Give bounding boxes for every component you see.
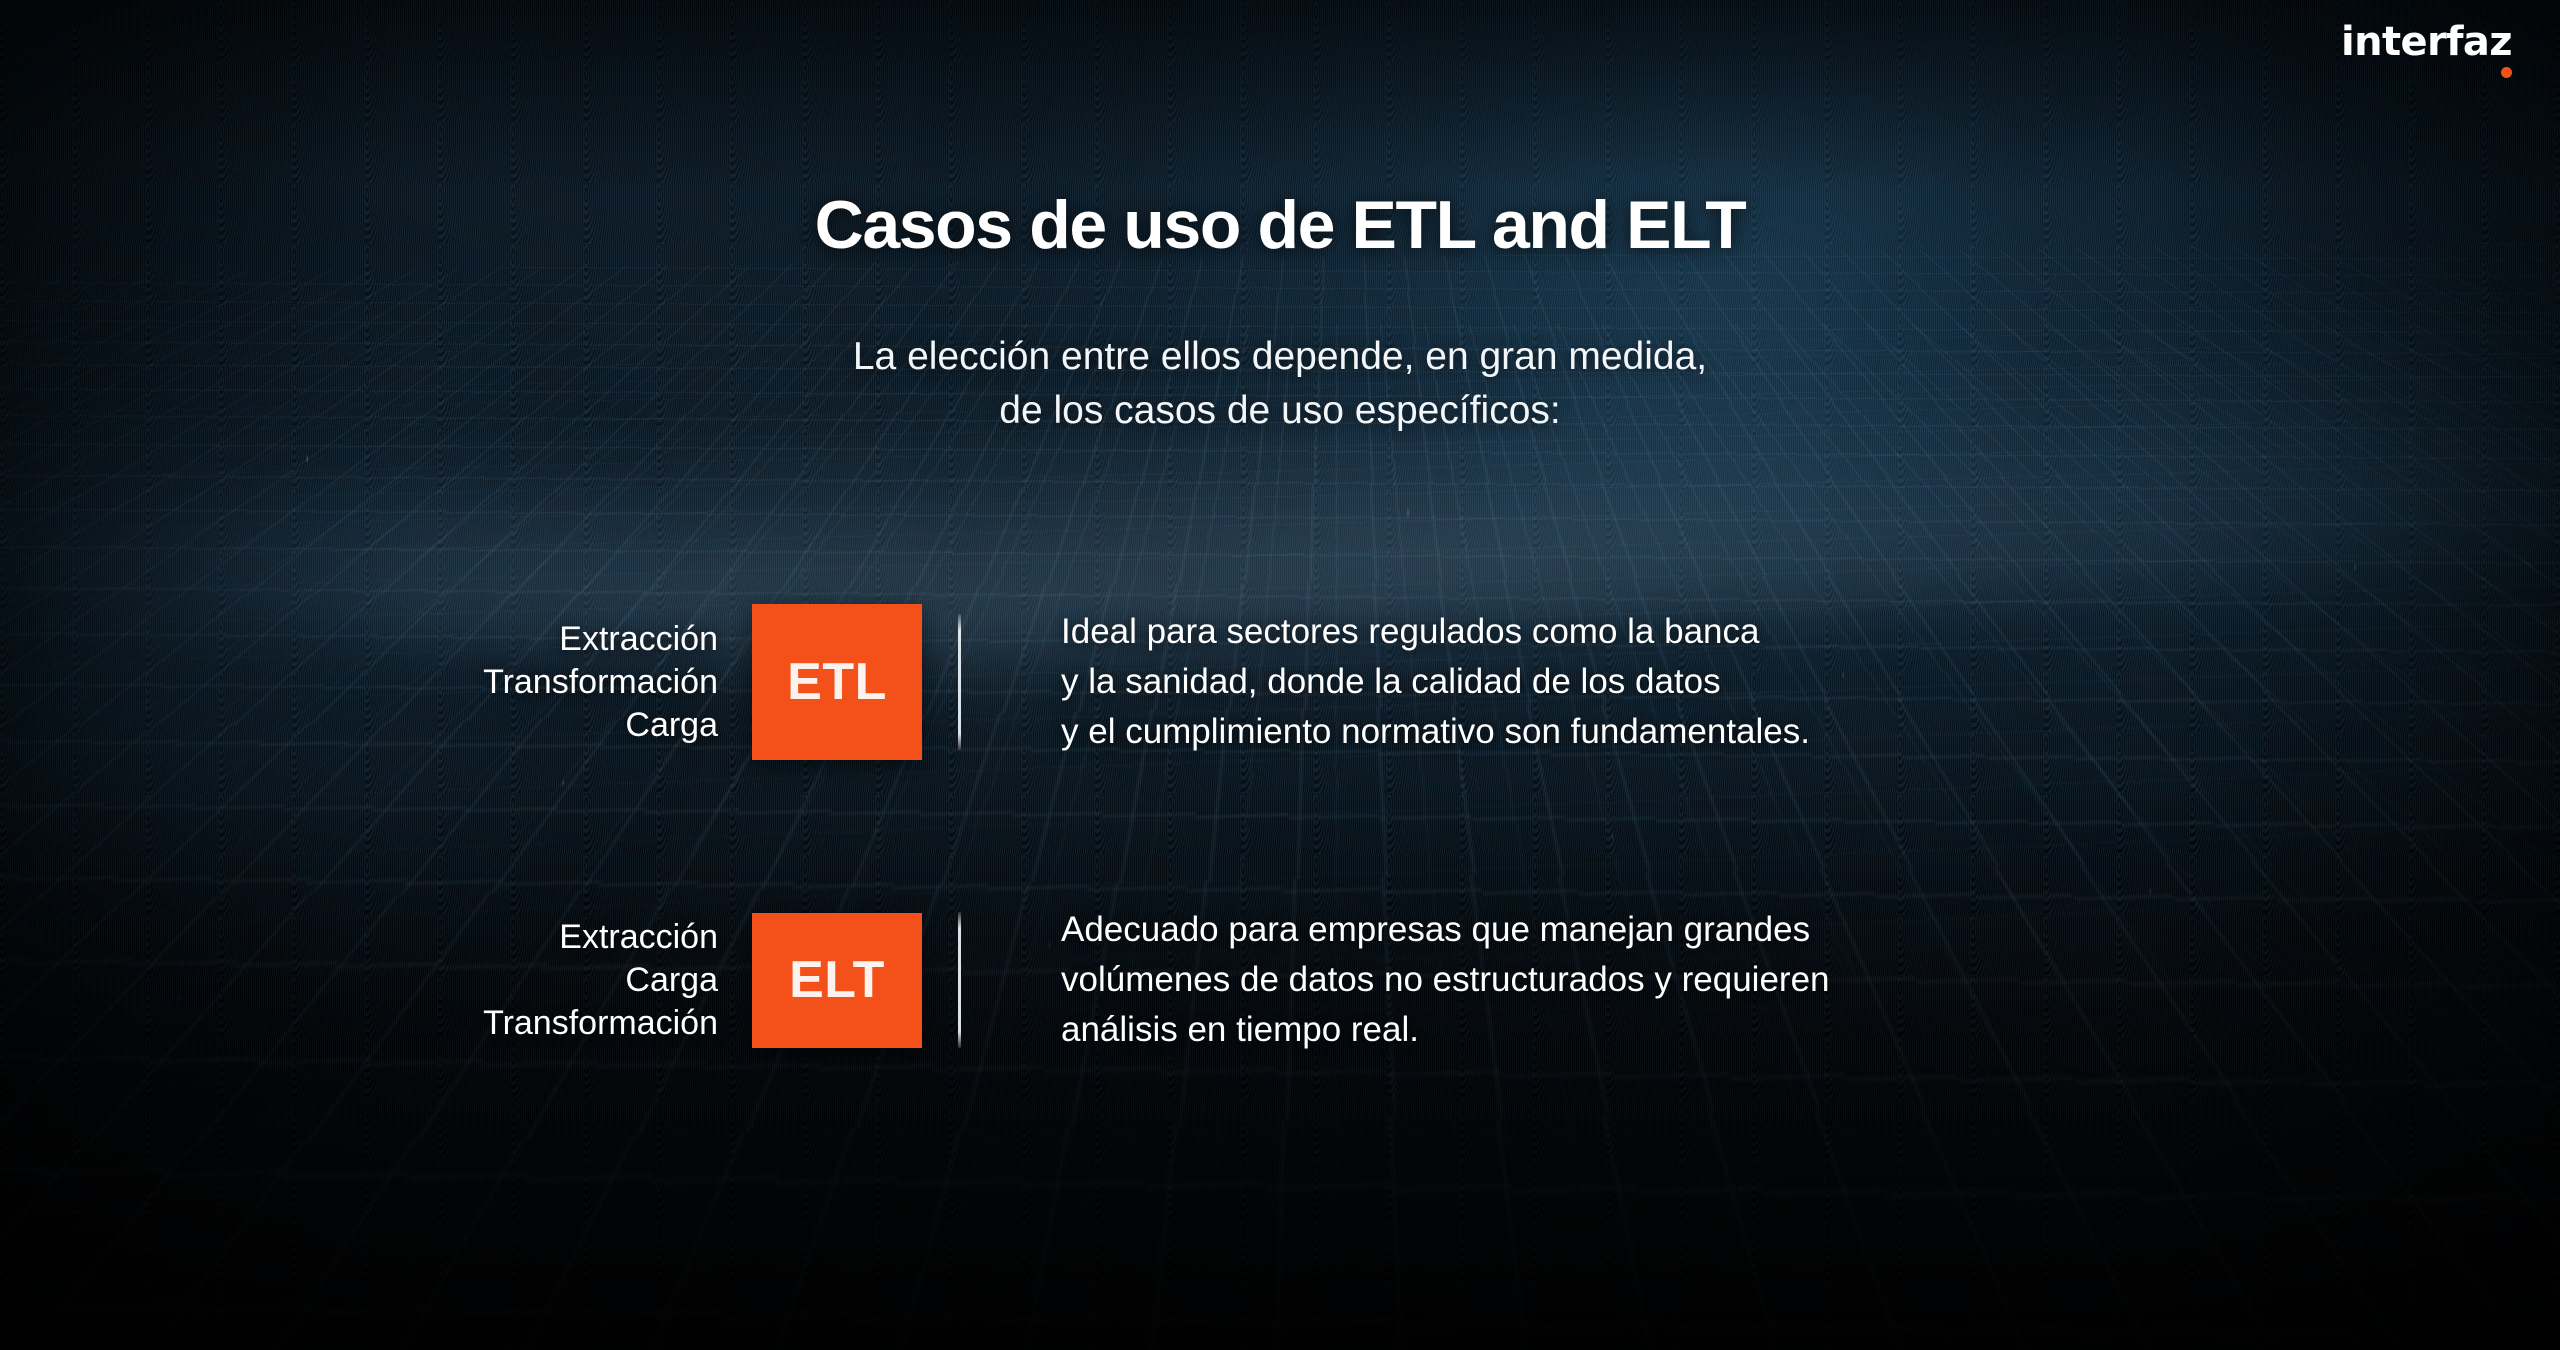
elt-description-line-3: análisis en tiempo real. — [1061, 1005, 1830, 1055]
etl-description-line-2: y la sanidad, donde la calidad de los da… — [1061, 657, 1810, 707]
etl-description: Ideal para sectores regulados como la ba… — [1061, 607, 1810, 757]
subtitle-line-1: La elección entre ellos depende, en gran… — [0, 330, 2560, 384]
elt-description-line-1: Adecuado para empresas que manejan grand… — [1061, 905, 1830, 955]
elt-badge-label: ELT — [789, 954, 885, 1006]
etl-description-line-1: Ideal para sectores regulados como la ba… — [1061, 607, 1810, 657]
brand-dot-icon — [2501, 67, 2512, 78]
etl-term-2: Transformación — [0, 661, 718, 704]
elt-terms-list: Extracción Carga Transformación — [0, 916, 718, 1045]
etl-badge: ETL — [752, 604, 922, 760]
elt-term-1: Extracción — [0, 916, 718, 959]
elt-term-3: Transformación — [0, 1002, 718, 1045]
brand-logo: interfaz — [2341, 22, 2512, 62]
slide-canvas: interfaz Casos de uso de ETL and ELT La … — [0, 0, 2560, 1350]
use-case-row-etl: Extracción Transformación Carga ETL Idea… — [0, 604, 2560, 760]
use-case-row-elt: Extracción Carga Transformación ELT Adec… — [0, 905, 2560, 1055]
elt-row-divider — [958, 912, 961, 1048]
etl-term-1: Extracción — [0, 618, 718, 661]
etl-term-3: Carga — [0, 704, 718, 747]
etl-badge-label: ETL — [787, 656, 887, 708]
etl-description-line-3: y el cumplimiento normativo son fundamen… — [1061, 707, 1810, 757]
etl-terms-list: Extracción Transformación Carga — [0, 618, 718, 747]
subtitle-line-2: de los casos de uso específicos: — [0, 384, 2560, 438]
etl-row-divider — [958, 614, 961, 750]
elt-term-2: Carga — [0, 959, 718, 1002]
elt-description-line-2: volúmenes de datos no estructurados y re… — [1061, 955, 1830, 1005]
page-title: Casos de uso de ETL and ELT — [0, 186, 2560, 264]
slide-content: interfaz Casos de uso de ETL and ELT La … — [0, 0, 2560, 1350]
elt-badge: ELT — [752, 913, 922, 1048]
elt-description: Adecuado para empresas que manejan grand… — [1061, 905, 1830, 1055]
page-subtitle: La elección entre ellos depende, en gran… — [0, 330, 2560, 438]
brand-logo-text: interfaz — [2341, 22, 2512, 62]
